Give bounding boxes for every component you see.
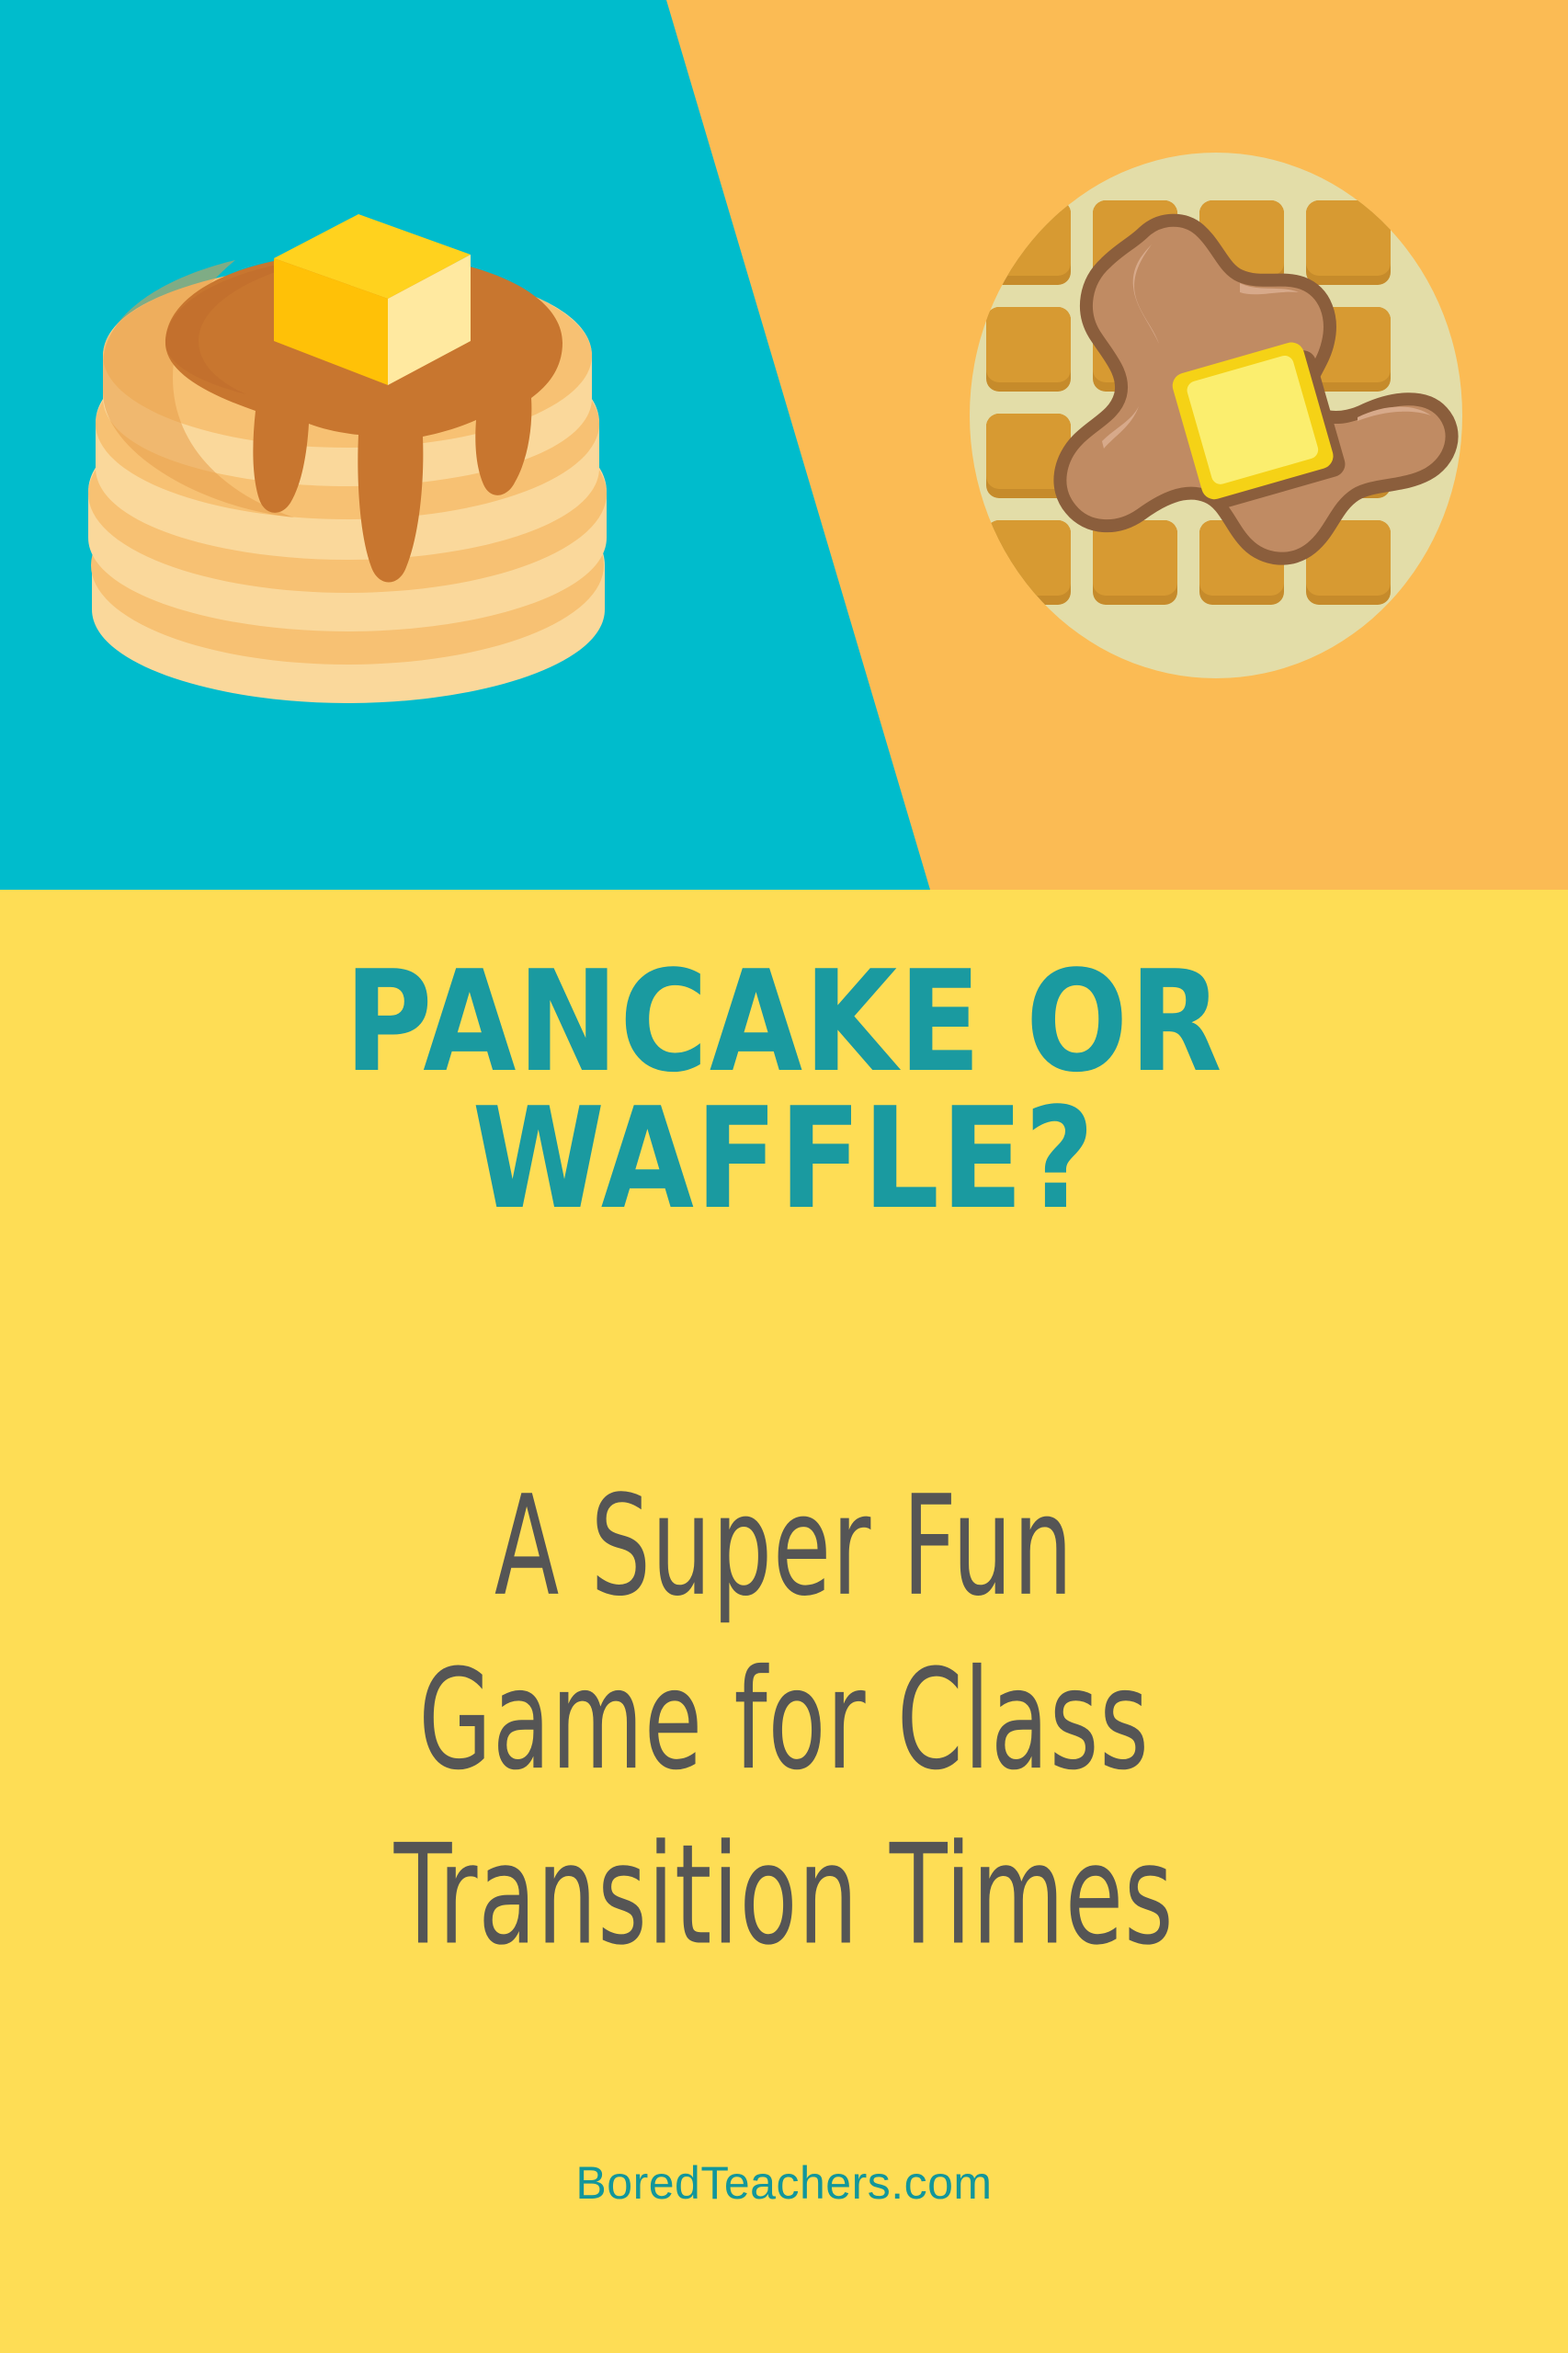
subtitle-line-1: A Super Fun [173,1460,1396,1634]
pancake-stack-icon [55,152,643,740]
content-section: PANCAKE OR WAFFLE? A Super Fun Game for … [0,890,1568,2353]
hero-section [0,0,1568,890]
poster-root: PANCAKE OR WAFFLE? A Super Fun Game for … [0,0,1568,2353]
page-subtitle: A Super Fun Game for Class Transition Ti… [173,1460,1396,1983]
site-credit[interactable]: BoredTeachers.com [0,2156,1568,2210]
headline-line-1: PANCAKE OR [109,954,1458,1091]
subtitle-line-3: Transition Times [173,1808,1396,1983]
waffle-icon [931,129,1501,699]
subtitle-line-2: Game for Class [173,1634,1396,1809]
page-title: PANCAKE OR WAFFLE? [109,954,1458,1228]
headline-line-2: WAFFLE? [109,1091,1458,1228]
